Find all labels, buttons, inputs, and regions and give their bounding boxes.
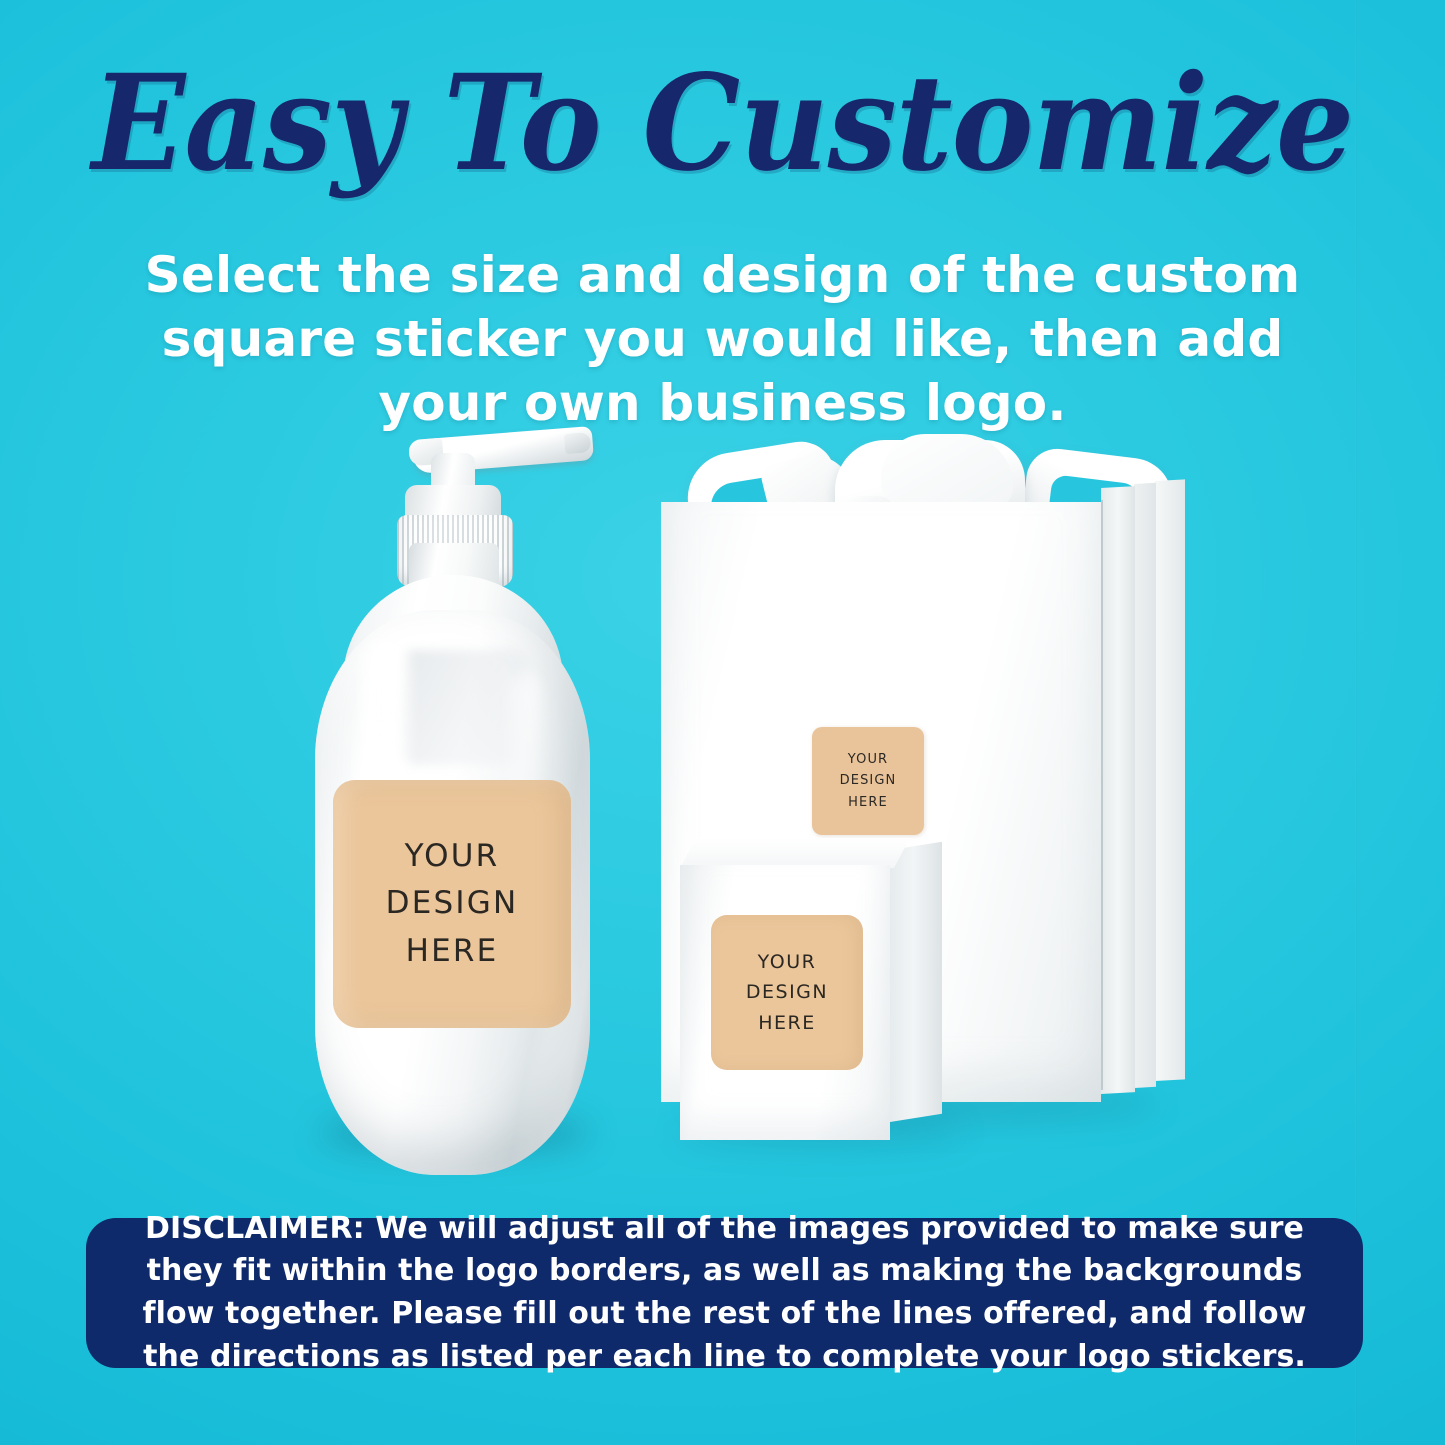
giftbox-lid-line [1101, 500, 1103, 1090]
page-title: Easy To Customize [51, 58, 1395, 190]
smallbox-top-panel [680, 838, 910, 868]
product-scene: YOUR DESIGN HERE YOUR DESIGN HERE [0, 395, 1445, 1185]
sticker-line-2: DESIGN [840, 770, 897, 791]
sticker-line-1: YOUR [848, 749, 888, 770]
sticker-line-1: YOUR [758, 947, 817, 977]
sticker-on-gift-box: YOUR DESIGN HERE [812, 727, 924, 835]
disclaimer-label: DISCLAIMER: [145, 1211, 365, 1246]
disclaimer-box: DISCLAIMER: We will adjust all of the im… [86, 1218, 1363, 1368]
sticker-line-2: DESIGN [386, 880, 519, 927]
sticker-line-3: HERE [848, 792, 888, 813]
sticker-line-3: HERE [406, 928, 499, 975]
smallbox-side-panel [890, 842, 942, 1122]
sticker-line-2: DESIGN [746, 977, 828, 1007]
disclaimer-text: DISCLAIMER: We will adjust all of the im… [112, 1208, 1337, 1378]
bottle-inner-reflection [400, 650, 525, 765]
sticker-line-3: HERE [758, 1008, 816, 1038]
giftbox-side-panel [1101, 486, 1135, 1094]
small-box: YOUR DESIGN HERE [680, 850, 980, 1150]
sticker-line-1: YOUR [405, 833, 500, 880]
giftbox-back-panel [1155, 479, 1185, 1081]
ribbon-center-fold [881, 434, 1013, 508]
promo-poster: Easy To Customize Select the size and de… [0, 0, 1445, 1445]
sticker-on-small-box: YOUR DESIGN HERE [711, 915, 863, 1070]
pump-bottle: YOUR DESIGN HERE [305, 425, 600, 1175]
giftbox-mid-panel [1134, 483, 1156, 1088]
sticker-on-bottle: YOUR DESIGN HERE [333, 780, 571, 1028]
